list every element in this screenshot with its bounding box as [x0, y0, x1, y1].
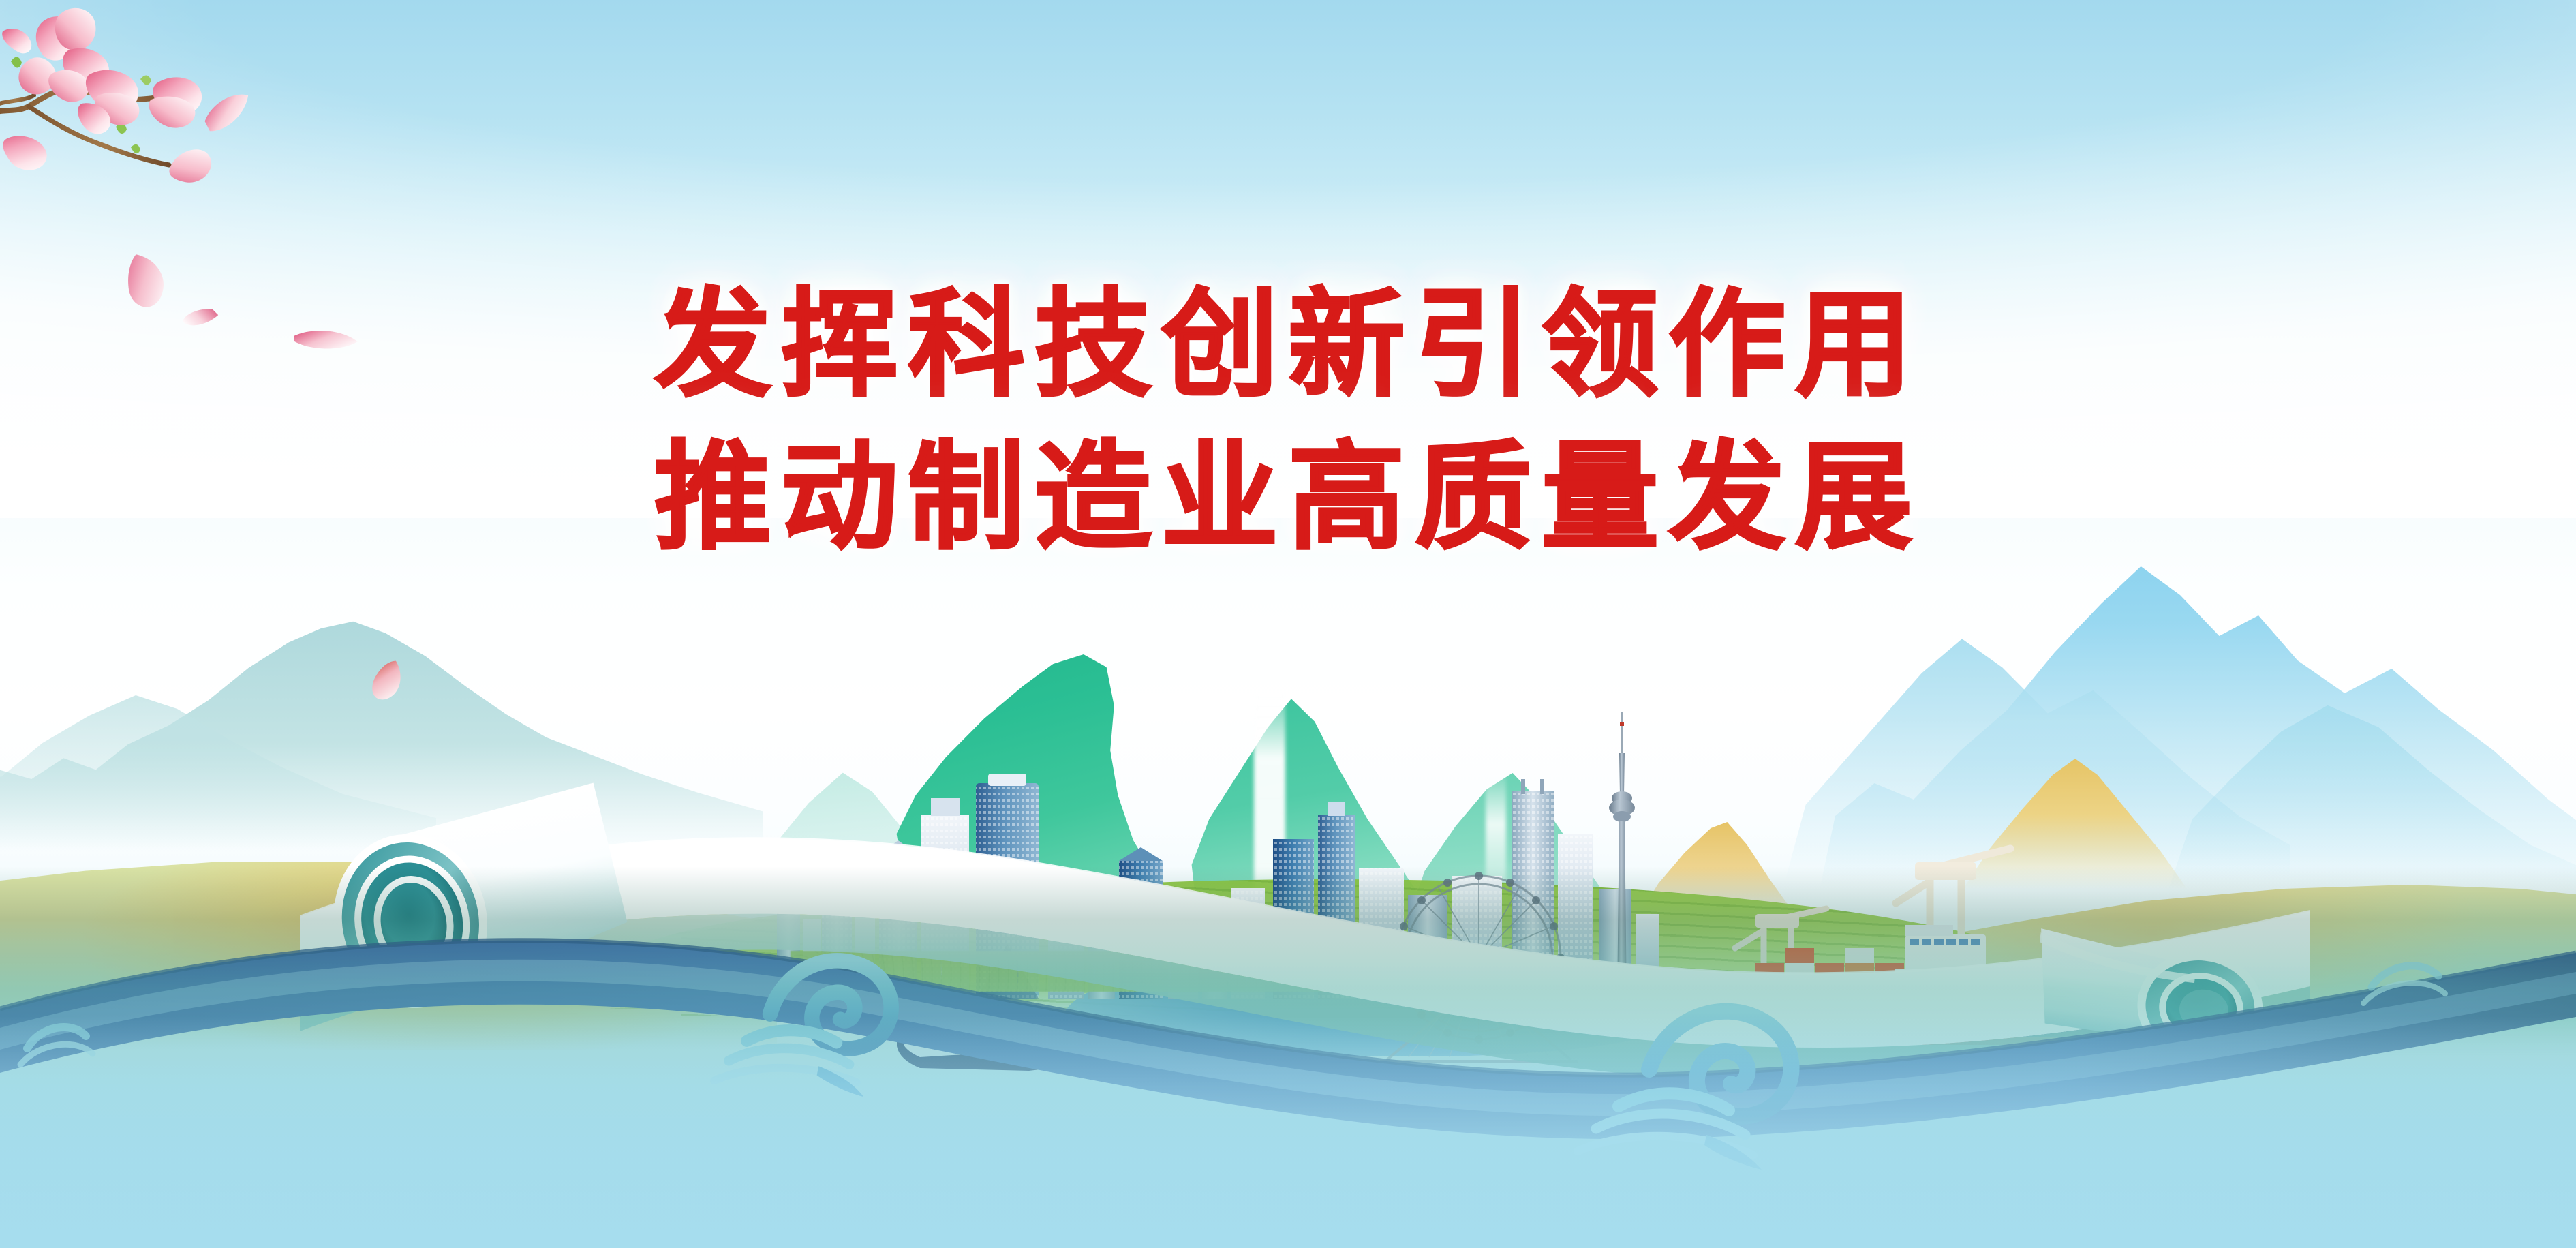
poster-title: 发挥科技创新引领作用 推动制造业高质量发展: [0, 269, 2576, 574]
city-skyline: [763, 774, 1663, 999]
river: [1063, 954, 1676, 1056]
container-ship: [1690, 828, 2140, 1060]
title-line-2: 推动制造业高质量发展: [0, 422, 2576, 575]
title-line-1: 发挥科技创新引领作用: [0, 269, 2576, 422]
mountain-blue-right-mid: [1785, 593, 2290, 879]
magnolia-branch-icon: [0, 0, 307, 218]
scroll-roll-right: [2027, 908, 2281, 1092]
riverside-trees: [791, 951, 1349, 992]
green-mountain-third: [1404, 757, 1663, 961]
ferris-wheel: [1366, 855, 1591, 1080]
green-mountain-main: [893, 654, 1274, 975]
falling-petal-1: [116, 245, 178, 316]
waterfall-secondary-icon: [1486, 777, 1506, 934]
passenger-boat: [893, 992, 1118, 1087]
falling-petal-5: [196, 82, 262, 144]
water-surface-highlight: [0, 1016, 2576, 1248]
mountain-teal-left: [0, 617, 763, 849]
sky-haze: [0, 0, 2576, 518]
water-surface: [0, 866, 2576, 1248]
tv-tower: [1595, 712, 1649, 999]
falling-petal-2: [180, 303, 220, 335]
green-mountain-far: [750, 750, 995, 941]
falling-petal-3: [292, 322, 360, 356]
scroll-roll-left: [312, 782, 637, 1032]
gold-peak-center: [1636, 818, 1799, 920]
green-mountain-second: [1186, 682, 1479, 968]
waterfall-icon: [1254, 695, 1285, 947]
terraced-field-left: [559, 907, 1077, 1009]
gold-peak-right: [1963, 753, 2188, 889]
poster-canvas: 发挥科技创新引领作用 推动制造业高质量发展: [0, 0, 2576, 1248]
mountain-blue-right-near: [2167, 675, 2576, 893]
golden-field-left: [0, 832, 777, 1050]
scroll-paper: [300, 815, 2310, 1101]
mountain-blue-right: [1820, 481, 2576, 889]
golden-field-right: [1908, 852, 2576, 1056]
terraced-field-center: [681, 879, 1976, 1016]
mountain-teal-left-small: [0, 682, 436, 852]
falling-petal-4: [364, 655, 413, 710]
wave-ribbon: [0, 872, 2576, 1200]
